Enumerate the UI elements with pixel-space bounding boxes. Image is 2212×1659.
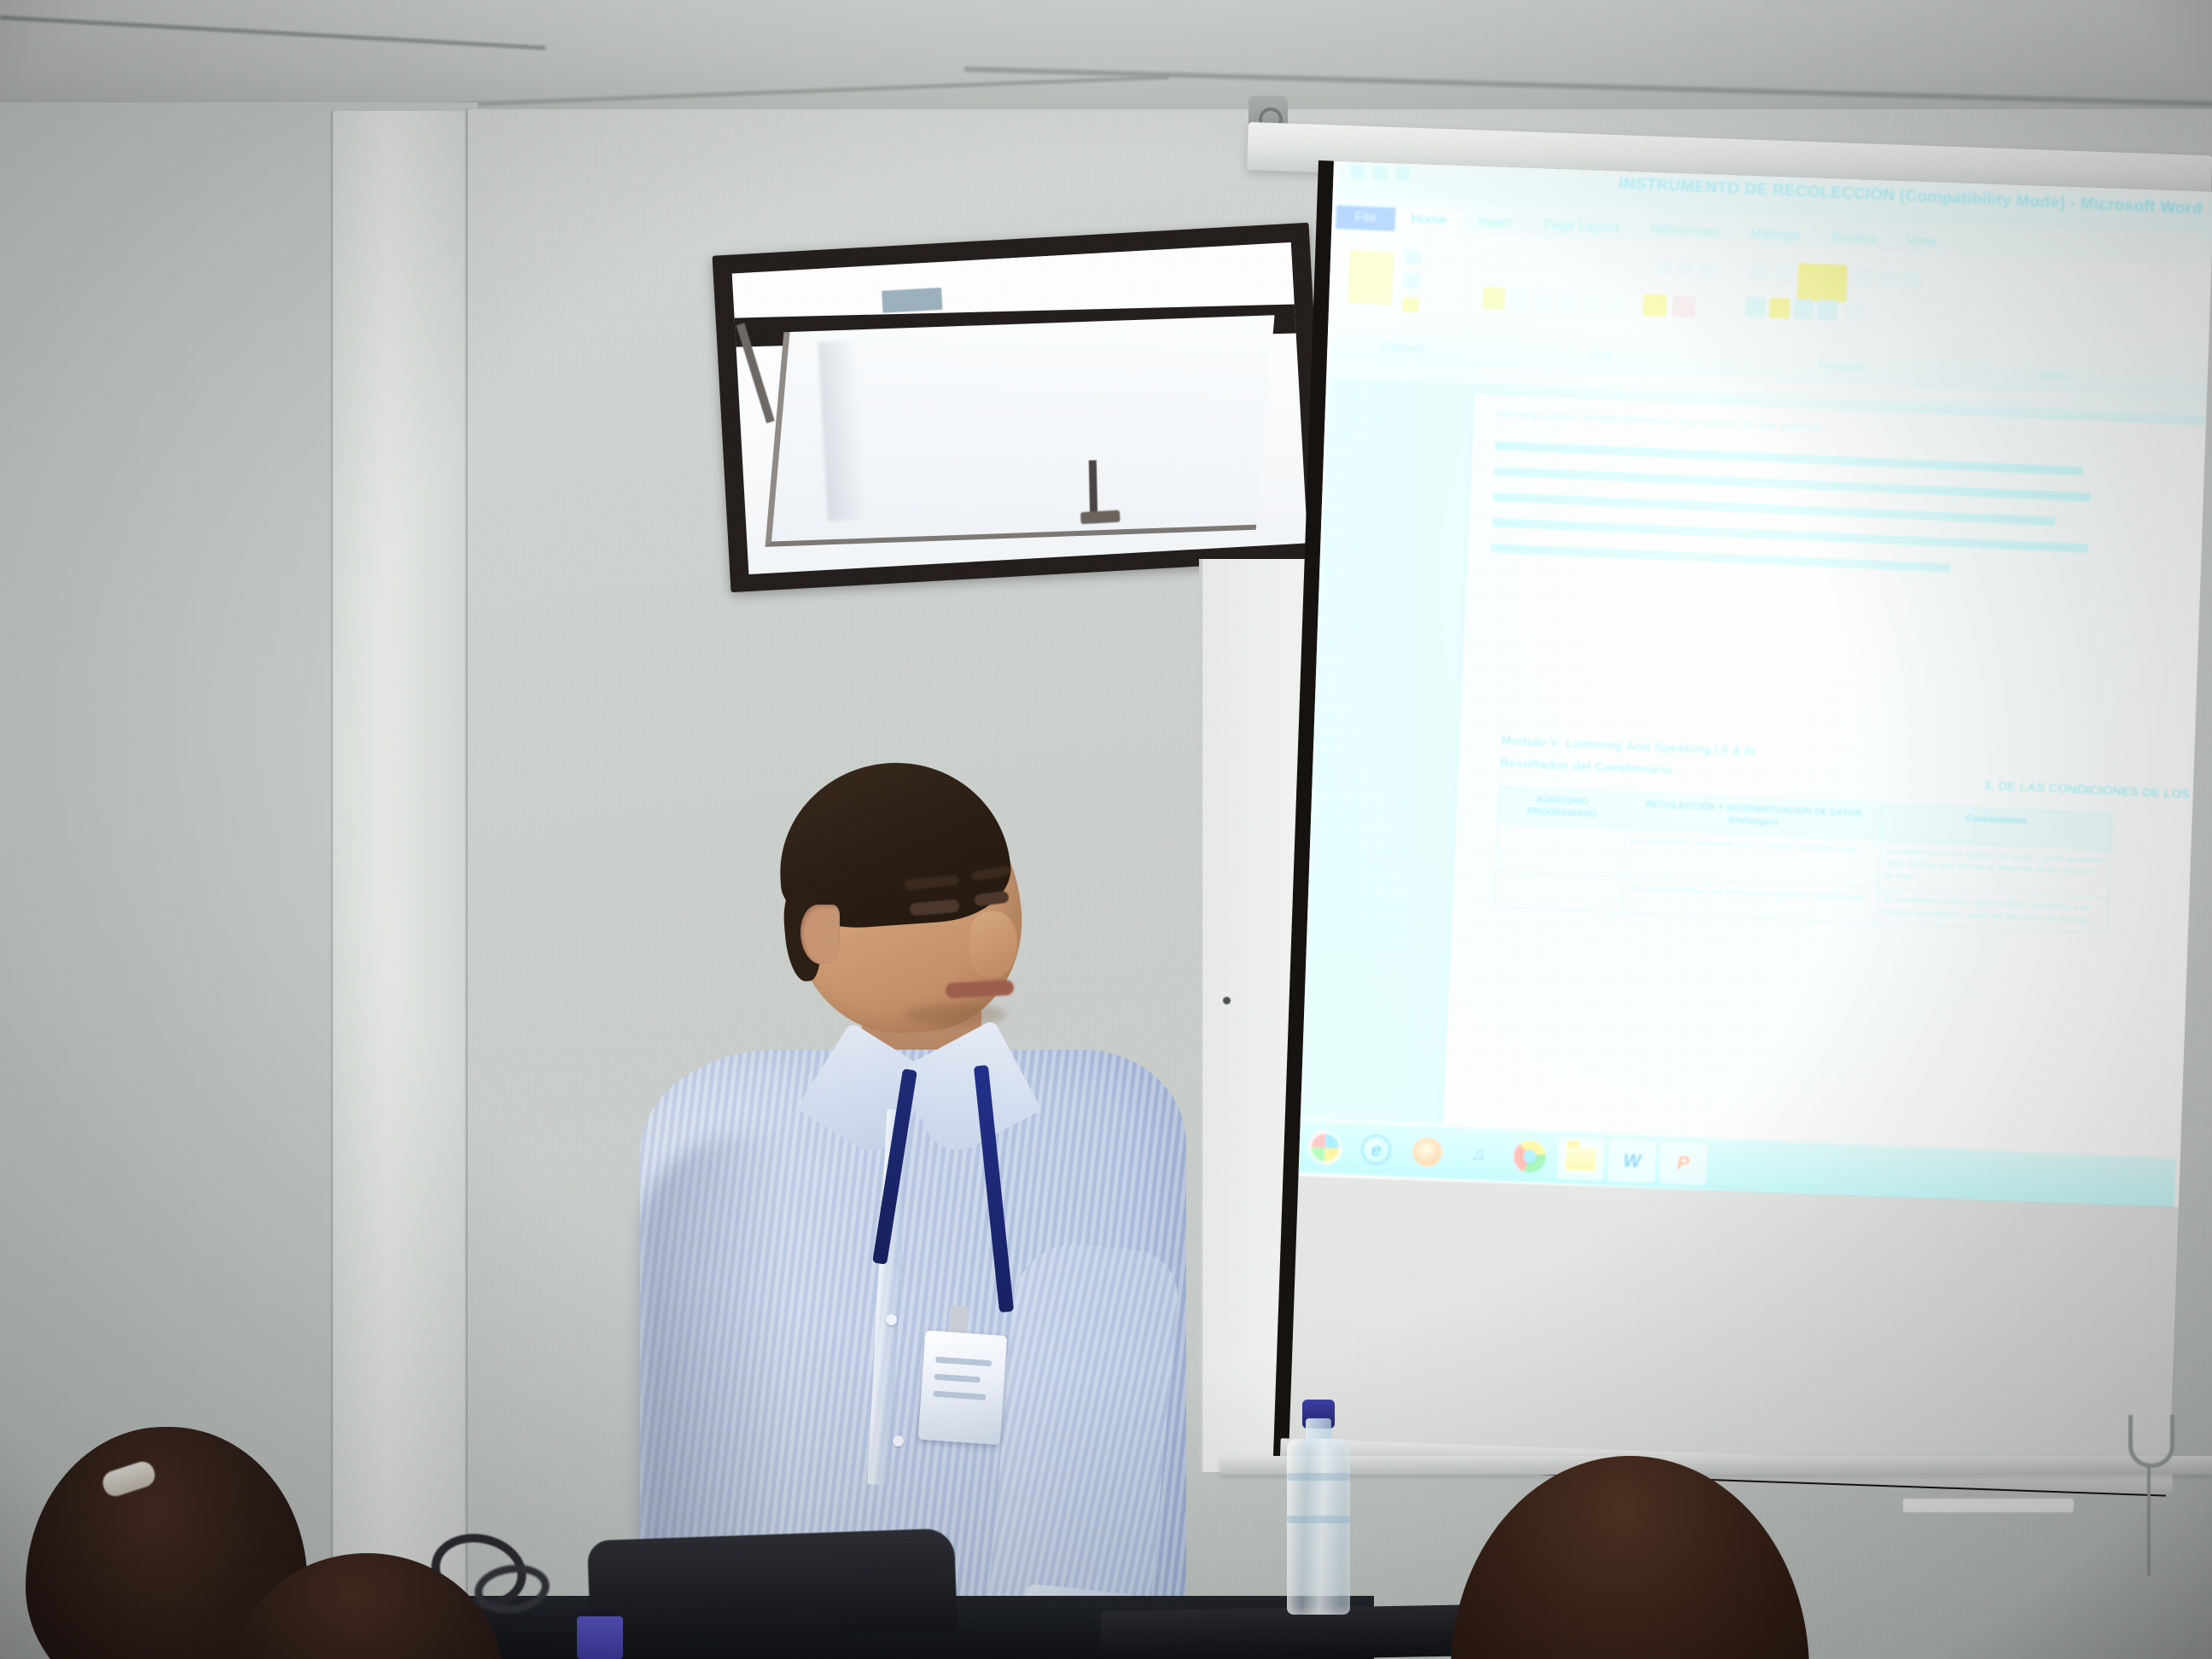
document-table-caption: 3. DE LAS CONDICIONES DE LOS EQUIPOS: [1983, 778, 2212, 805]
corner-column: [333, 111, 469, 1659]
justify-icon[interactable]: [1817, 300, 1838, 321]
powerpoint-icon[interactable]: P: [1659, 1142, 1707, 1185]
table-cell: [1496, 824, 1626, 876]
window-handle-base: [1080, 510, 1121, 525]
equipment-bag: [587, 1528, 958, 1644]
projected-word-window: INSTRUMENTO DE RECOLECCIÓN [Compatibilit…: [1298, 161, 2212, 1207]
water-bottle: [1280, 1400, 1359, 1615]
tab-insert[interactable]: Insert: [1462, 212, 1528, 237]
presenter-ear: [800, 905, 840, 964]
media-player-icon[interactable]: ♫: [1455, 1132, 1503, 1175]
ceiling-seam: [0, 15, 545, 50]
projector-screen: INSTRUMENTO DE RECOLECCIÓN [Compatibilit…: [1273, 160, 2212, 1497]
align-center-icon[interactable]: [1769, 298, 1790, 319]
marker-tray: [1903, 1499, 2074, 1512]
ribbon-group-clipboard: Clipboard: [1339, 236, 1471, 337]
document-section-heading-2: Resultados del Cuestionario: [1499, 755, 1673, 777]
change-case-icon[interactable]: [1697, 260, 1719, 278]
text-highlight-icon[interactable]: [1643, 294, 1668, 317]
presenter-nose: [969, 911, 1017, 978]
cut-icon[interactable]: [1404, 249, 1422, 265]
google-chrome-icon[interactable]: [1505, 1135, 1553, 1178]
font-size-box[interactable]: [1602, 256, 1647, 275]
line-spacing-icon[interactable]: [1846, 300, 1869, 322]
table-header-cell: AUDITORIO PROGRAMADO: [1499, 787, 1627, 828]
standing-presenter: [649, 768, 1195, 1659]
table-cell: [1494, 871, 1623, 911]
text-line: [1490, 544, 1951, 573]
word-document-canvas[interactable]: elemento varían considerablemente depend…: [1298, 377, 2209, 1155]
underline-icon[interactable]: [1534, 288, 1555, 311]
tab-review[interactable]: Review: [1815, 228, 1892, 253]
awning-window[interactable]: [713, 223, 1328, 592]
firefox-icon[interactable]: [1404, 1131, 1452, 1173]
projector-screen-surface: INSTRUMENTO DE RECOLECCIÓN [Compatibilit…: [1289, 161, 2212, 1473]
shirt-button: [893, 1435, 904, 1447]
document-table: AUDITORIO PROGRAMADO RECOLECCIÓN Y SISTE…: [1493, 786, 2113, 934]
format-painter-icon[interactable]: [1402, 297, 1420, 313]
quick-access-toolbar[interactable]: [1349, 165, 1411, 182]
bold-icon[interactable]: [1482, 287, 1505, 310]
bottle-ring: [1287, 1473, 1350, 1481]
bottle-ring: [1287, 1516, 1350, 1523]
shading-icon[interactable]: [1797, 263, 1848, 302]
presenter-mouth: [946, 980, 1015, 998]
wall-hook-cord: [2147, 1464, 2151, 1575]
ceiling-seam: [964, 67, 2212, 108]
subscript-icon[interactable]: [1583, 291, 1604, 314]
tab-file[interactable]: File: [1336, 205, 1396, 231]
style-normal-gallery-item[interactable]: [1965, 274, 2061, 324]
ribbon-group-label: Font: [1473, 344, 1728, 367]
align-right-icon[interactable]: [1793, 299, 1814, 320]
font-name-box[interactable]: [1484, 251, 1596, 273]
bottle-body: [1287, 1439, 1350, 1615]
paste-icon[interactable]: [1348, 250, 1394, 305]
tab-view[interactable]: View: [1890, 231, 1951, 256]
wall-hook-icon: [2128, 1415, 2174, 1468]
badge-text-line: [935, 1357, 992, 1367]
badge-text-line: [934, 1374, 981, 1383]
word-page[interactable]: elemento varían considerablemente depend…: [1441, 394, 2212, 1194]
shirt-button: [886, 1314, 897, 1325]
microsoft-word-icon[interactable]: W: [1608, 1139, 1656, 1182]
window-latch-icon[interactable]: [882, 288, 942, 313]
borders-icon[interactable]: [1852, 267, 1875, 287]
bullets-icon[interactable]: [1746, 262, 1769, 282]
superscript-icon[interactable]: [1607, 292, 1628, 315]
italic-icon[interactable]: [1510, 288, 1531, 311]
grow-font-icon[interactable]: [1653, 259, 1673, 276]
undo-icon[interactable]: [1372, 166, 1388, 181]
window-glass: [732, 242, 1308, 574]
strikethrough-icon[interactable]: [1559, 290, 1580, 313]
lanyard-clip: [948, 1305, 969, 1335]
whiteboard-mark: [1223, 997, 1231, 1004]
ribbon-group-font: Font: [1474, 242, 1734, 349]
badge-text-line: [933, 1391, 986, 1400]
blue-object: [577, 1616, 623, 1659]
ribbon-group-label: Styles: [1956, 365, 2152, 386]
ribbon-group-label: Clipboard: [1338, 339, 1465, 356]
classroom-photo-scene: INSTRUMENTO DE RECOLECCIÓN [Compatibilit…: [0, 0, 2212, 1659]
sort-icon[interactable]: [1877, 268, 1899, 288]
show-marks-icon[interactable]: [1901, 269, 1923, 288]
font-color-icon[interactable]: [1672, 295, 1697, 318]
table-cell: Se evidencia que los equipos de sonido y…: [1878, 840, 2110, 897]
ribbon-group-label: Paragraph: [1736, 356, 1948, 377]
windows-explorer-icon[interactable]: [1557, 1138, 1604, 1180]
ribbon-group-paragraph: Paragraph: [1737, 253, 1954, 358]
tab-home[interactable]: Home: [1394, 209, 1463, 234]
change-styles-icon[interactable]: [2066, 278, 2139, 328]
ribbon-group-styles: Styles: [1957, 263, 2157, 367]
tab-mailings[interactable]: Mailings: [1734, 224, 1816, 250]
numbering-icon[interactable]: [1772, 264, 1795, 283]
start-orb-icon[interactable]: [1301, 1126, 1349, 1169]
id-badge: [918, 1330, 1008, 1445]
wall-ledge: [1220, 1456, 2212, 1475]
save-icon[interactable]: [1349, 165, 1365, 180]
align-left-icon[interactable]: [1745, 296, 1767, 317]
copy-icon[interactable]: [1403, 273, 1421, 289]
document-paragraph: elemento varían considerablemente depend…: [1496, 407, 1822, 434]
internet-explorer-icon[interactable]: [1353, 1128, 1400, 1171]
document-section-heading-1: Modulo V: Listening And Speaking I,II & …: [1500, 733, 1755, 759]
shrink-font-icon[interactable]: [1675, 259, 1695, 277]
redo-icon[interactable]: [1395, 166, 1411, 182]
